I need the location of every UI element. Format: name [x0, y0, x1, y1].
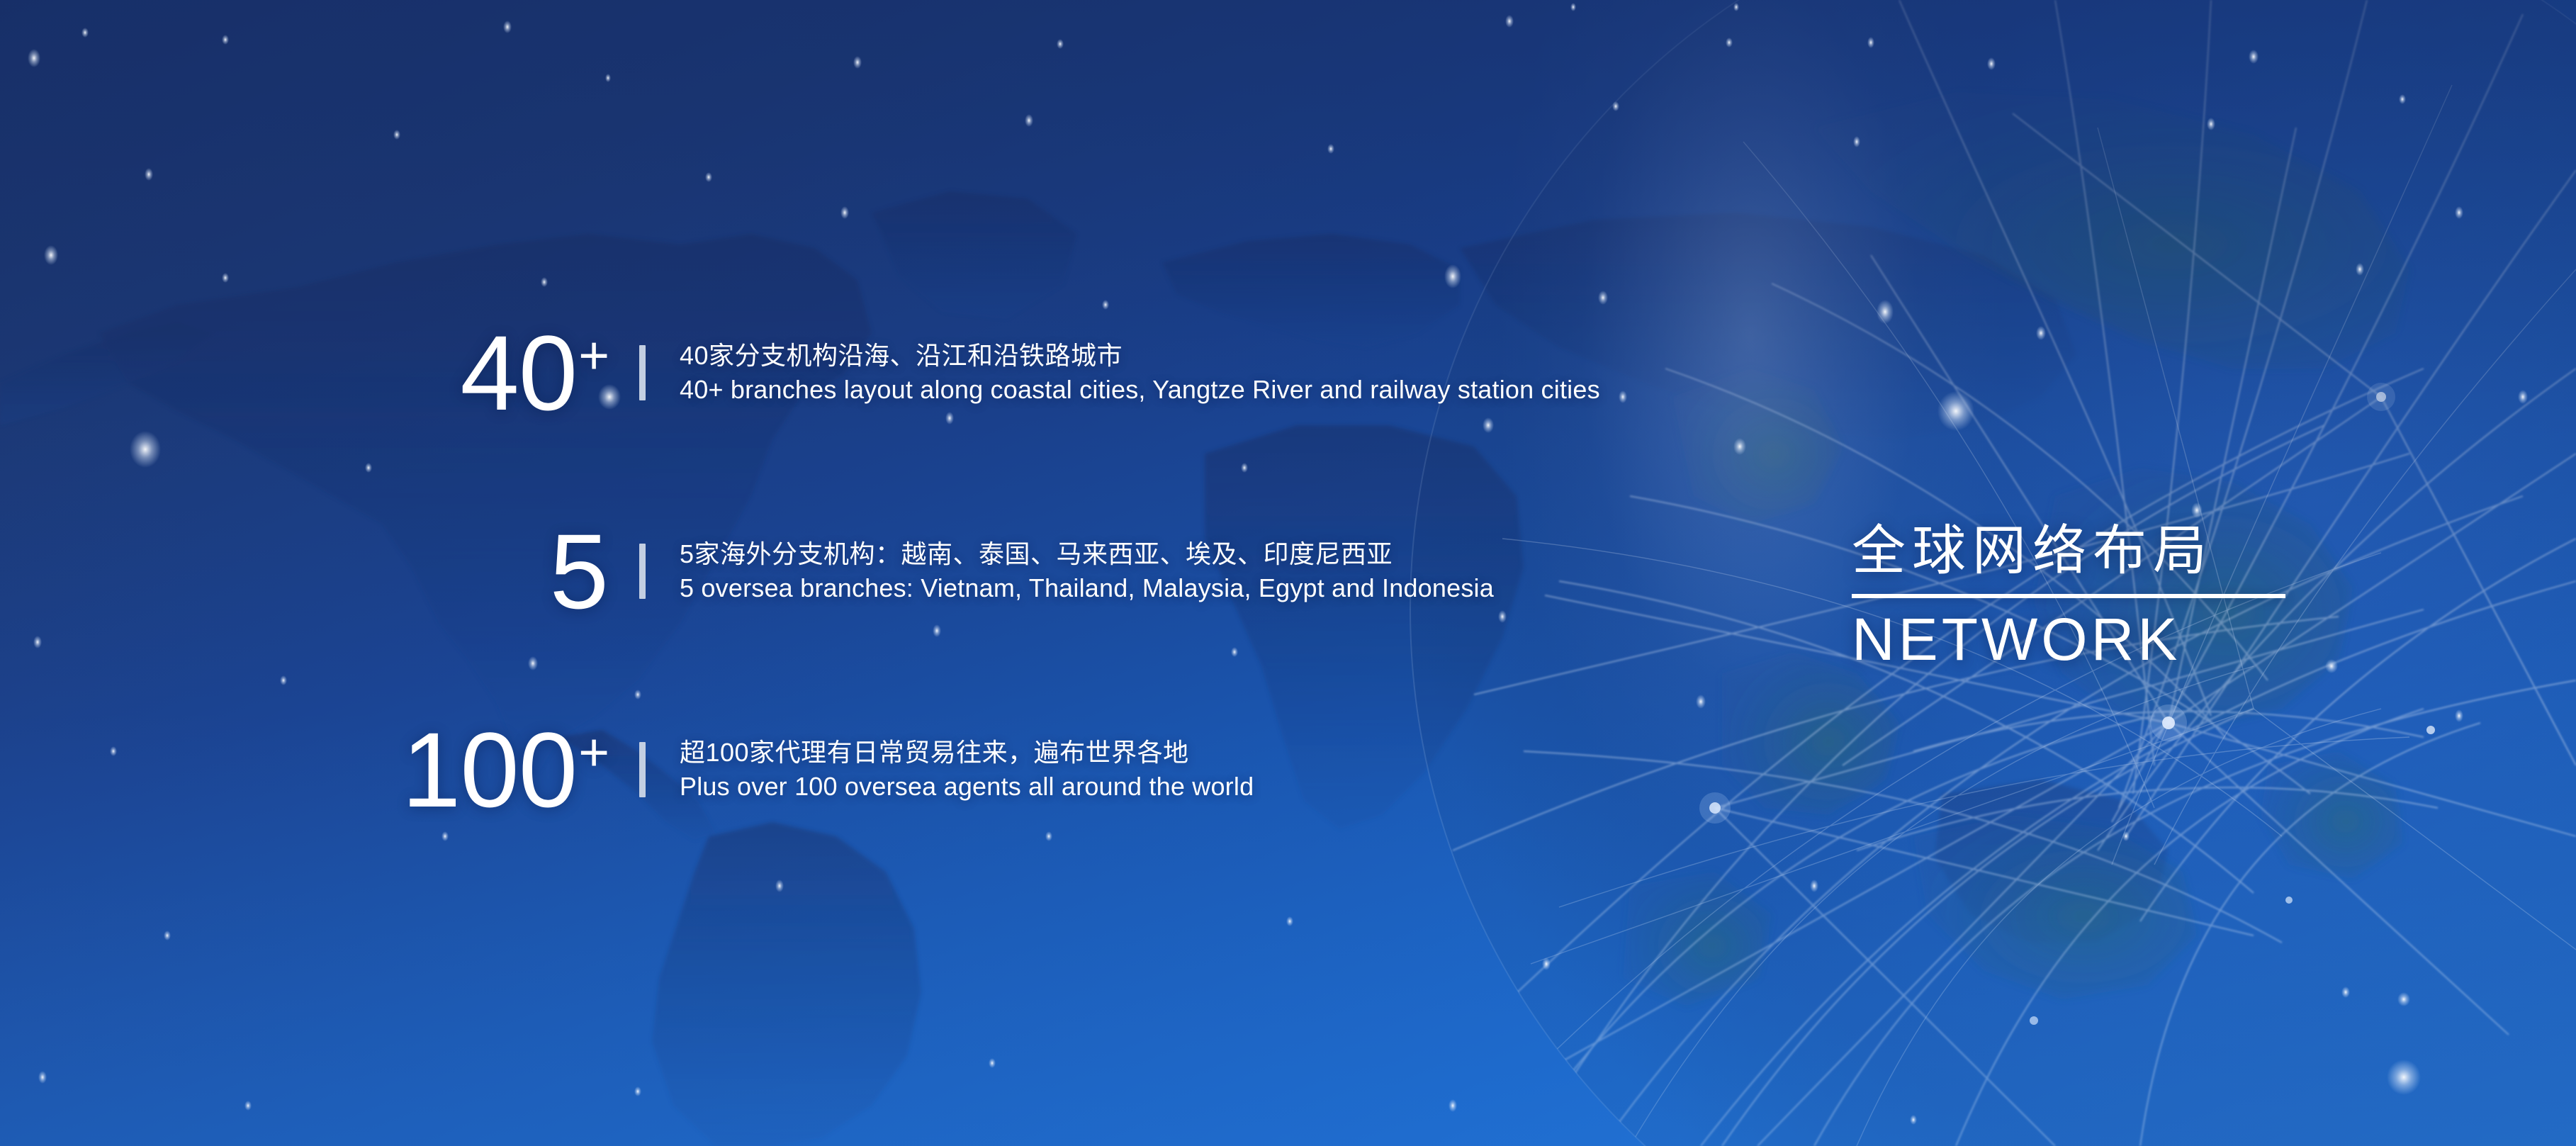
title-english: NETWORK [1852, 608, 2291, 670]
stat-number-5: 5 [213, 521, 609, 622]
stat-number-100: 100+ [213, 719, 609, 821]
stat-row-oversea-branches: 5 5家海外分支机构：越南、泰国、马来西亚、埃及、印度尼西亚 5 oversea… [213, 521, 1494, 622]
title-divider-rule [1852, 594, 2285, 598]
stat-text-cn: 5家海外分支机构：越南、泰国、马来西亚、埃及、印度尼西亚 [680, 537, 1494, 571]
stat-text-en: 40+ branches layout along coastal cities… [680, 373, 1600, 407]
title-chinese: 全球网络布局 [1852, 524, 2291, 578]
global-network-banner: 40+ 40家分支机构沿海、沿江和沿铁路城市 40+ branches layo… [0, 0, 2576, 1146]
stat-row-agents: 100+ 超100家代理有日常贸易往来，遍布世界各地 Plus over 100… [213, 719, 1254, 821]
stat-text-cn: 40家分支机构沿海、沿江和沿铁路城市 [680, 339, 1600, 373]
stat-text-en: 5 oversea branches: Vietnam, Thailand, M… [680, 571, 1494, 605]
stat-text-cn: 超100家代理有日常贸易往来，遍布世界各地 [680, 736, 1254, 770]
stat-text-branches: 40家分支机构沿海、沿江和沿铁路城市 40+ branches layout a… [680, 339, 1600, 407]
stat-text-oversea-branches: 5家海外分支机构：越南、泰国、马来西亚、埃及、印度尼西亚 5 oversea b… [680, 537, 1494, 605]
stat-text-en: Plus over 100 oversea agents all around … [680, 770, 1254, 804]
stat-text-agents: 超100家代理有日常贸易往来，遍布世界各地 Plus over 100 over… [680, 736, 1254, 804]
stat-divider [639, 345, 646, 400]
stat-divider [639, 742, 646, 797]
stat-row-branches: 40+ 40家分支机构沿海、沿江和沿铁路城市 40+ branches layo… [213, 322, 1600, 424]
network-title-block: 全球网络布局 NETWORK [1852, 524, 2291, 670]
stat-divider [639, 544, 646, 599]
stat-number-40: 40+ [213, 322, 609, 424]
